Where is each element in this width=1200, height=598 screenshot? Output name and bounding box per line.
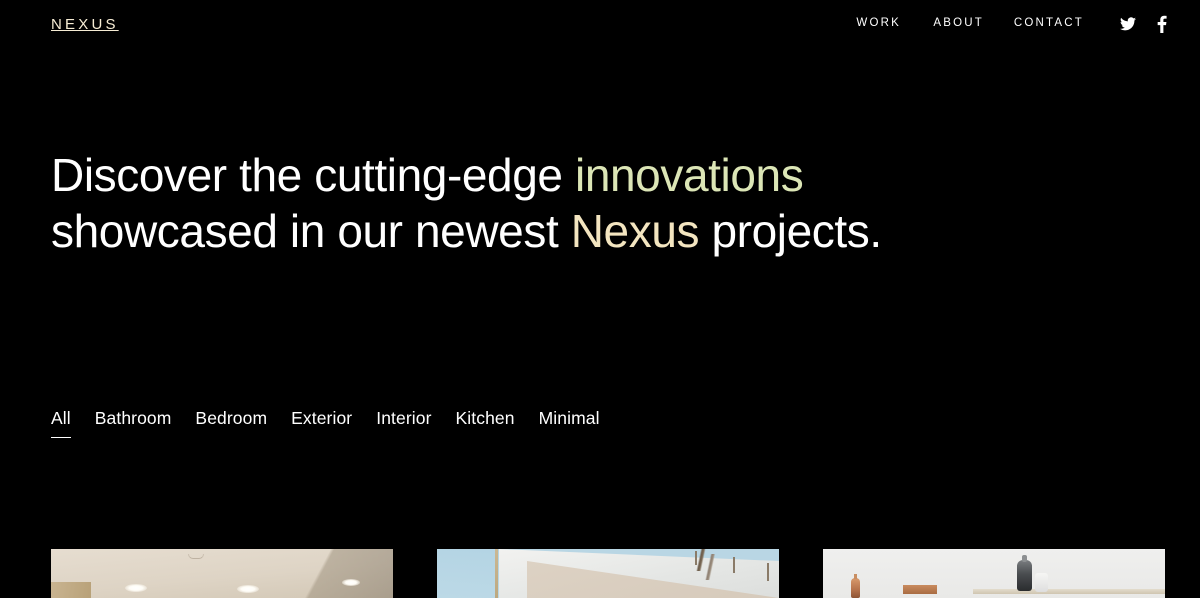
project-card-3[interactable]	[823, 549, 1165, 598]
headline-text-3: our newest	[337, 205, 570, 257]
site-logo[interactable]: NEXUS	[51, 17, 119, 32]
nav-link-work[interactable]: WORK	[856, 18, 901, 30]
headline-text-4: projects.	[699, 205, 882, 257]
headline-accent-nexus: Nexus	[571, 205, 699, 257]
downlight-3	[342, 579, 360, 586]
filter-tab-kitchen[interactable]: Kitchen	[456, 406, 515, 438]
project-gallery	[51, 549, 1165, 598]
filter-tab-exterior[interactable]: Exterior	[291, 406, 352, 438]
project-card-2[interactable]	[437, 549, 779, 598]
nav-link-contact[interactable]: CONTACT	[1014, 18, 1084, 30]
filter-tab-bathroom[interactable]: Bathroom	[95, 406, 172, 438]
headline-text-1: Discover the cutting-edge	[51, 149, 575, 201]
wooden-shelf	[973, 589, 1165, 594]
dark-bottle	[1017, 560, 1032, 591]
nav-link-about[interactable]: ABOUT	[933, 18, 984, 30]
downlight-2	[237, 585, 259, 593]
facebook-icon[interactable]	[1154, 15, 1170, 33]
filter-tab-interior[interactable]: Interior	[376, 406, 431, 438]
page-root: NEXUS WORK ABOUT CONTACT Disc	[0, 0, 1200, 598]
filter-tab-all[interactable]: All	[51, 406, 71, 438]
twitter-icon[interactable]	[1120, 15, 1136, 33]
page-title: Discover the cutting-edge innovations sh…	[51, 147, 1011, 259]
vertical-post	[495, 549, 498, 598]
headline-accent-innovations: innovations	[575, 149, 803, 201]
baluster-3	[767, 563, 769, 581]
railing-bottom	[633, 554, 779, 580]
filter-tab-minimal[interactable]: Minimal	[539, 406, 600, 438]
wooden-block	[903, 585, 937, 594]
category-filter-bar: All Bathroom Bedroom Exterior Interior K…	[51, 406, 600, 438]
headline-text-2: showcased in	[51, 205, 325, 257]
baluster-2	[733, 557, 735, 573]
ceiling-vent-detail	[188, 554, 204, 559]
hero-section: Discover the cutting-edge innovations sh…	[51, 147, 1011, 259]
project-image-exterior	[437, 549, 779, 598]
baluster-1	[695, 551, 697, 565]
white-vase	[1035, 573, 1048, 592]
site-header: NEXUS WORK ABOUT CONTACT	[0, 0, 1200, 52]
filter-tab-bedroom[interactable]: Bedroom	[195, 406, 267, 438]
copper-bottle	[851, 578, 860, 598]
project-image-interior	[51, 549, 393, 598]
project-card-1[interactable]	[51, 549, 393, 598]
project-image-minimal	[823, 549, 1165, 598]
social-links	[1120, 15, 1170, 33]
downlight-1	[125, 584, 147, 592]
